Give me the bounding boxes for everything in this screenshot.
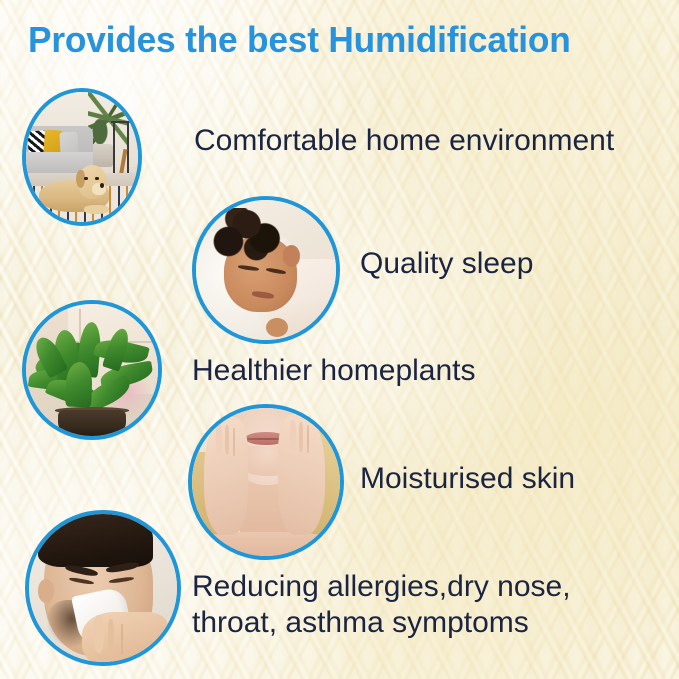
plant-leaf-shape xyxy=(65,362,93,408)
dog-paws-shape xyxy=(84,205,109,214)
plant-pot-shape xyxy=(91,144,113,167)
man-sneezing-photo xyxy=(29,514,177,662)
dog-eye-left-shape xyxy=(84,177,87,181)
photo-badge-comfortable-home-environment xyxy=(22,88,142,226)
baby-curly-hair-shape xyxy=(213,208,283,261)
fingers-right-shape xyxy=(290,420,296,453)
photo-badge-healthier-homeplants xyxy=(22,300,162,440)
woman-touching-face-photo xyxy=(192,408,340,556)
shoulder-shape xyxy=(192,532,340,556)
humidifier-benefits-poster: Provides the best Humidification xyxy=(0,0,679,679)
photo-badge-quality-sleep xyxy=(192,196,340,344)
benefit-label-healthier-homeplants: Healthier homeplants xyxy=(192,353,476,389)
fingers-shape xyxy=(94,615,104,653)
benefit-label-reducing-allergies: Reducing allergies,dry nose, throat, ast… xyxy=(192,569,571,641)
living-room-with-dog-photo xyxy=(26,92,138,222)
benefit-label-moisturised-skin: Moisturised skin xyxy=(360,461,575,497)
page-title: Provides the best Humidification xyxy=(28,19,655,61)
shelf-leg-left-shape xyxy=(113,121,115,173)
plant-pot-shape xyxy=(58,410,127,436)
dog-eye-right-shape xyxy=(95,177,98,181)
fingers-left-shape xyxy=(216,423,222,456)
hair-shape xyxy=(38,514,153,567)
hand-left-shape xyxy=(204,417,248,535)
photo-badge-moisturised-skin xyxy=(188,404,344,560)
photo-badge-reducing-allergies xyxy=(25,510,181,666)
houseplant-photo xyxy=(26,304,158,436)
shelf-leg-right-shape xyxy=(127,121,129,173)
ear-shape xyxy=(38,579,54,603)
hand-right-shape xyxy=(278,414,325,535)
sleeping-baby-photo xyxy=(196,200,336,340)
baby-ear-shape xyxy=(283,245,300,267)
benefit-label-quality-sleep: Quality sleep xyxy=(360,246,533,282)
benefit-label-comfortable-home-environment: Comfortable home environment xyxy=(194,123,614,159)
